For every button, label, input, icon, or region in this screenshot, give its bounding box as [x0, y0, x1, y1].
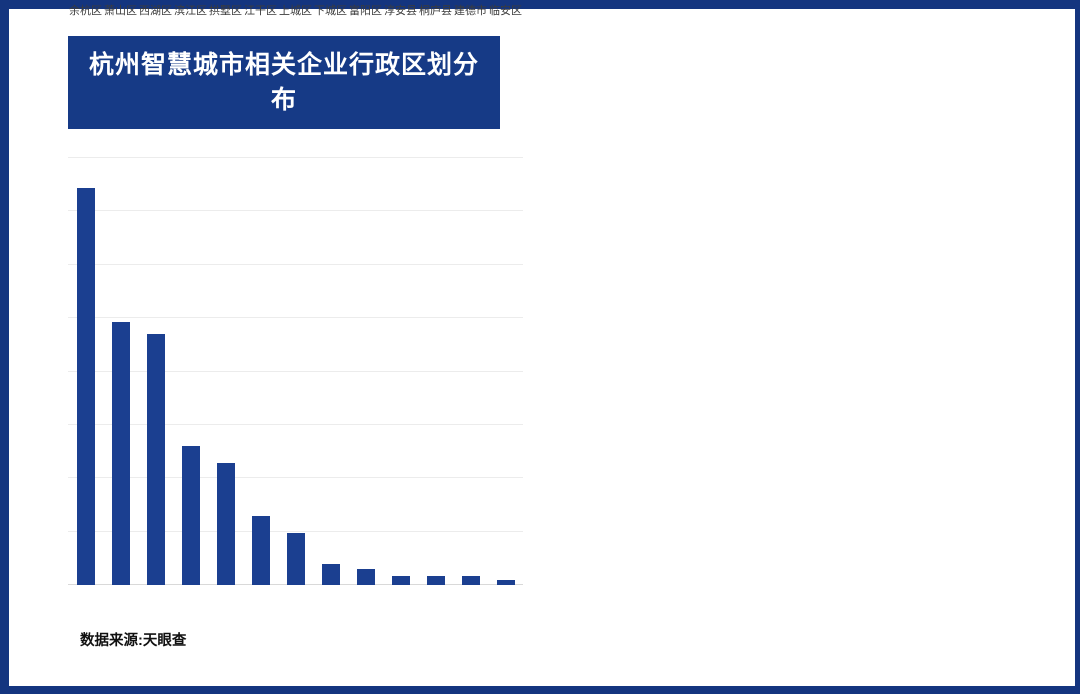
left-chart-bar — [147, 334, 165, 585]
left-chart-gridline — [68, 157, 523, 158]
left-chart-gridline — [68, 371, 523, 372]
left-chart-bar — [497, 580, 515, 585]
left-chart-title: 杭州智慧城市相关企业行政区划分布 — [68, 36, 500, 129]
left-chart-bar — [112, 322, 130, 585]
left-chart-bar — [252, 516, 270, 586]
left-chart-gridline — [68, 317, 523, 318]
left-chart-gridline — [68, 424, 523, 425]
left-chart-bar — [427, 576, 445, 585]
left-chart-bar — [392, 576, 410, 585]
left-chart-panel: 杭州智慧城市相关企业行政区划分布 余杭区萧山区西湖区滨江区拱墅区江干区上城区下城… — [0, 0, 540, 694]
left-chart-x-label: 临安区 — [482, 2, 530, 18]
left-chart-bar — [322, 564, 340, 585]
left-chart-gridline — [68, 264, 523, 265]
right-chart-x-axis-labels: 2018年2019年2020年2021年 — [540, 0, 896, 20]
left-chart-bar — [182, 446, 200, 585]
left-chart-bar — [287, 533, 305, 585]
right-chart-panel: 2018-2021年杭州市数字经济核心产业增加值变化 数字经济核心产业增加值（亿… — [540, 0, 1080, 694]
left-chart-x-axis-labels: 余杭区萧山区西湖区滨江区拱墅区江干区上城区下城区富阳区淳安县桐庐县建德市临安区 — [0, 0, 472, 20]
left-chart-gridline — [68, 210, 523, 211]
left-chart-gridline — [68, 531, 523, 532]
left-chart-bar — [217, 463, 235, 585]
left-chart-gridline — [68, 477, 523, 478]
left-chart-plot-area — [68, 158, 523, 585]
left-chart-bar — [462, 576, 480, 585]
left-chart-bar — [357, 569, 375, 585]
left-chart-source: 数据来源:天眼查 — [80, 629, 186, 650]
slide-canvas: 杭州智慧城市相关企业行政区划分布 余杭区萧山区西湖区滨江区拱墅区江干区上城区下城… — [0, 0, 1080, 694]
left-chart-bar — [77, 188, 95, 585]
